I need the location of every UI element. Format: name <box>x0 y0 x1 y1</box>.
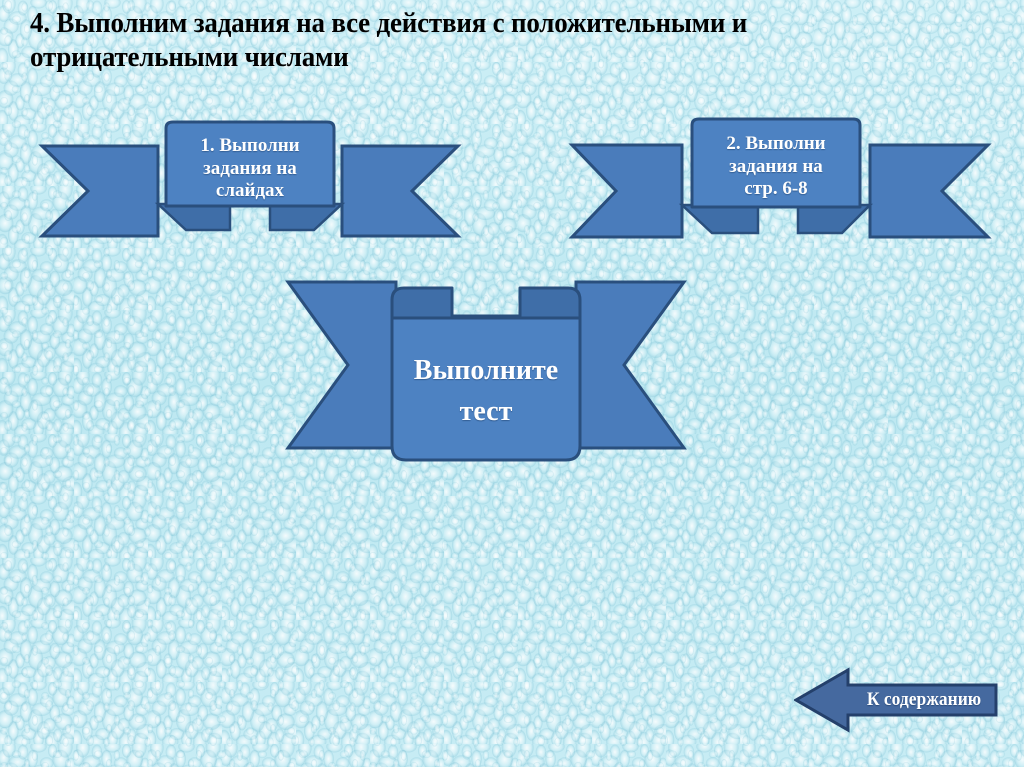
page-title: 4. Выполним задания на все действия с по… <box>30 6 914 74</box>
ribbon-fold-right <box>270 204 342 230</box>
ribbon-left-tail <box>572 145 682 237</box>
back-to-contents-button[interactable]: К содержанию <box>794 664 998 736</box>
ribbon-plaque <box>166 122 334 206</box>
ribbon-plaque <box>392 318 580 460</box>
ribbon-fold-left <box>158 204 230 230</box>
ribbon-fold-left <box>682 205 758 233</box>
ribbon-plaque <box>692 119 860 207</box>
ribbon-right-tail <box>342 146 458 236</box>
ribbon-tasks-on-slides[interactable]: 1. Выполни задания на слайдах <box>40 118 460 258</box>
slide-canvas: 4. Выполним задания на все действия с по… <box>0 0 1024 767</box>
ribbon-right-tail <box>870 145 988 237</box>
ribbon-right-tail <box>576 282 684 448</box>
arrow-left-icon <box>794 664 998 736</box>
ribbon-do-test[interactable]: Выполните тест <box>286 278 686 464</box>
ribbon-left-tail <box>42 146 158 236</box>
ribbon-fold-right <box>798 205 870 233</box>
ribbon-left-tail <box>288 282 396 448</box>
ribbon-tasks-pages[interactable]: 2. Выполни задания на стр. 6-8 <box>570 105 990 250</box>
